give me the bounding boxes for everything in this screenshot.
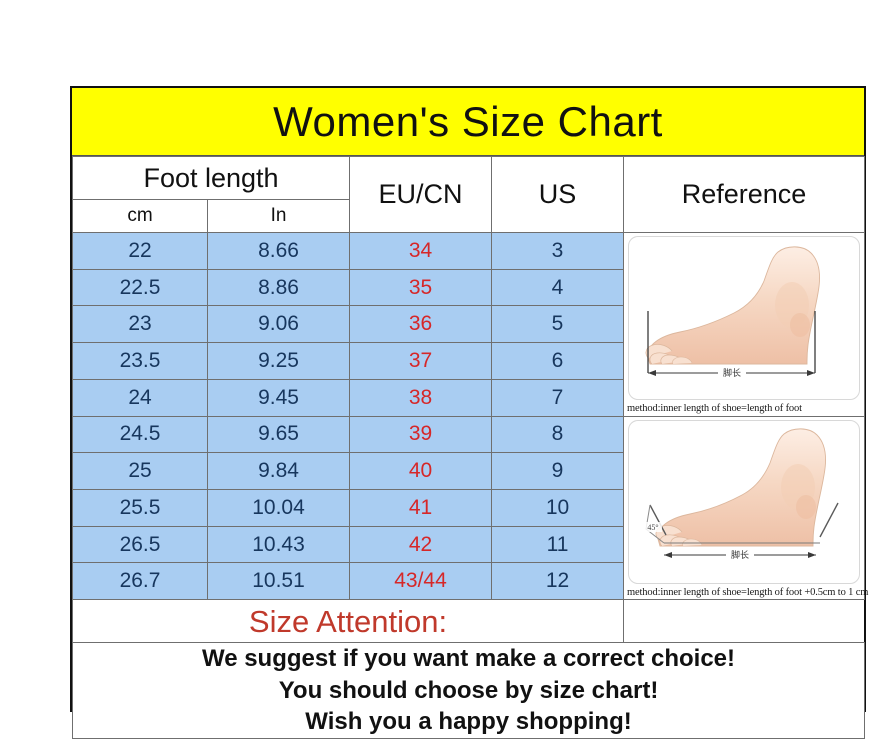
cell-eu-cn: 34 xyxy=(350,233,492,270)
cell-cm: 22 xyxy=(73,233,208,270)
cell-eu-cn: 35 xyxy=(350,269,492,306)
table-header-row-primary: Foot length EU/CN US Reference xyxy=(73,157,865,200)
cell-cm: 22.5 xyxy=(73,269,208,306)
size-chart-page: Women's Size Chart Foot length EU/CN US … xyxy=(0,0,890,747)
foot-in-shoe-measure-icon: 45° 脚长 xyxy=(624,417,864,587)
cell-cm: 25.5 xyxy=(73,489,208,526)
cell-cm: 24.5 xyxy=(73,416,208,453)
cell-us: 11 xyxy=(492,526,624,563)
cell-cm: 23 xyxy=(73,306,208,343)
foot-diagram-svg: 脚长 xyxy=(624,233,864,403)
foot-shoe-diagram-svg: 45° 脚长 xyxy=(624,417,864,587)
header-unit-cm: cm xyxy=(73,200,208,233)
cell-cm: 23.5 xyxy=(73,343,208,380)
cell-cm: 24 xyxy=(73,379,208,416)
size-attention-heading-cell: Size Attention: xyxy=(73,600,624,643)
header-foot-length: Foot length xyxy=(73,157,350,200)
cell-us: 3 xyxy=(492,233,624,270)
cell-us: 6 xyxy=(492,343,624,380)
chart-title-bar: Women's Size Chart xyxy=(72,88,864,156)
cell-us: 12 xyxy=(492,563,624,600)
cell-us: 8 xyxy=(492,416,624,453)
header-eu-cn: EU/CN xyxy=(350,157,492,233)
header-reference: Reference xyxy=(624,157,865,233)
cell-eu-cn: 39 xyxy=(350,416,492,453)
cell-in: 9.06 xyxy=(208,306,350,343)
cell-in: 9.25 xyxy=(208,343,350,380)
cell-eu-cn: 38 xyxy=(350,379,492,416)
cell-in: 9.45 xyxy=(208,379,350,416)
reference-cell-bottom: 45° 脚长 method:inner length of shoe=lengt… xyxy=(624,416,865,600)
cell-eu-cn: 42 xyxy=(350,526,492,563)
cell-cm: 26.7 xyxy=(73,563,208,600)
reference-cell-top: 脚长 method:inner length of shoe=length of… xyxy=(624,233,865,417)
page-title: Women's Size Chart xyxy=(273,101,663,143)
reference-caption-bottom: method:inner length of shoe=length of fo… xyxy=(624,587,864,600)
size-notes-row: We suggest if you want make a correct ch… xyxy=(73,643,865,739)
size-notes-cell: We suggest if you want make a correct ch… xyxy=(73,643,865,739)
reference-caption-top: method:inner length of shoe=length of fo… xyxy=(624,403,864,416)
cell-eu-cn: 37 xyxy=(350,343,492,380)
cell-us: 9 xyxy=(492,453,624,490)
cell-eu-cn: 43/44 xyxy=(350,563,492,600)
cell-in: 10.51 xyxy=(208,563,350,600)
size-chart-table: Foot length EU/CN US Reference cm In 22 … xyxy=(72,156,865,739)
size-attention-row: Size Attention: xyxy=(73,600,865,643)
svg-text:脚长: 脚长 xyxy=(731,549,749,560)
size-chart-frame: Women's Size Chart Foot length EU/CN US … xyxy=(70,86,866,712)
cell-in: 10.04 xyxy=(208,489,350,526)
foot-profile-measure-icon: 脚长 xyxy=(624,233,864,403)
cell-us: 4 xyxy=(492,269,624,306)
note-line-1: We suggest if you want make a correct ch… xyxy=(73,643,864,675)
header-unit-in: In xyxy=(208,200,350,233)
table-row: 22 8.66 34 3 xyxy=(73,233,865,270)
svg-text:脚长: 脚长 xyxy=(723,367,741,378)
cell-cm: 25 xyxy=(73,453,208,490)
cell-eu-cn: 40 xyxy=(350,453,492,490)
table-row: 24.5 9.65 39 8 xyxy=(73,416,865,453)
cell-eu-cn: 36 xyxy=(350,306,492,343)
cell-us: 10 xyxy=(492,489,624,526)
cell-in: 9.65 xyxy=(208,416,350,453)
cell-us: 7 xyxy=(492,379,624,416)
header-us: US xyxy=(492,157,624,233)
cell-cm: 26.5 xyxy=(73,526,208,563)
note-line-3: Wish you a happy shopping! xyxy=(73,706,864,738)
size-attention-heading: Size Attention: xyxy=(73,606,623,637)
cell-in: 8.66 xyxy=(208,233,350,270)
cell-in: 9.84 xyxy=(208,453,350,490)
cell-in: 8.86 xyxy=(208,269,350,306)
note-line-2: You should choose by size chart! xyxy=(73,675,864,707)
cell-in: 10.43 xyxy=(208,526,350,563)
cell-us: 5 xyxy=(492,306,624,343)
svg-text:45°: 45° xyxy=(647,523,658,532)
cell-eu-cn: 41 xyxy=(350,489,492,526)
